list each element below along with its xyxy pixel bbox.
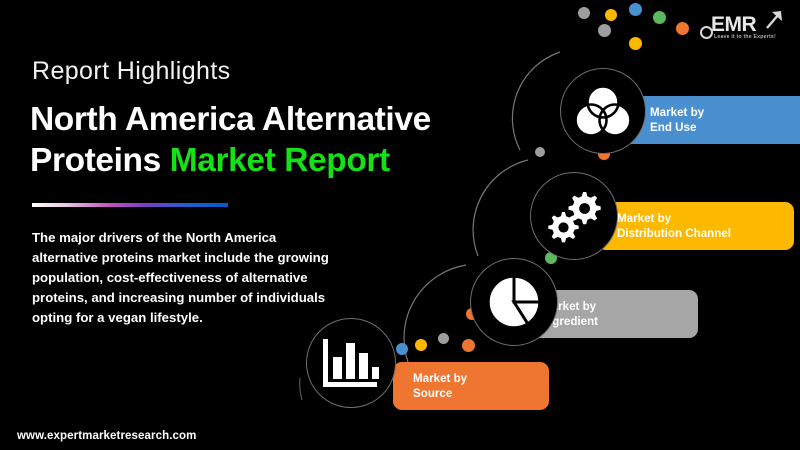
pie-chart-icon xyxy=(470,258,558,346)
decor-dot-1 xyxy=(578,7,590,19)
segment-distribution-channel-label-2: Distribution Channel xyxy=(617,226,731,241)
decor-dot-3 xyxy=(629,3,642,16)
decor-dot-0 xyxy=(598,24,611,37)
decor-dot-9 xyxy=(535,147,545,157)
decor-dot-5 xyxy=(629,37,642,50)
segment-distribution-channel-badge[interactable]: Market by Distribution Channel xyxy=(597,202,794,250)
decor-dot-6 xyxy=(676,22,689,35)
report-highlights-banner: EMR Leave it to the Experts! Report High… xyxy=(0,0,800,450)
decor-dot-14 xyxy=(396,343,408,355)
gears-icon xyxy=(530,172,618,260)
decor-dot-13 xyxy=(415,339,427,351)
segment-end-use-label-1: Market by xyxy=(650,105,704,120)
segment-source-label-2: Source xyxy=(413,386,467,401)
bar-chart-icon xyxy=(306,318,396,408)
decor-dot-2 xyxy=(605,9,617,21)
segment-source-label-1: Market by xyxy=(413,371,467,386)
decor-dot-4 xyxy=(653,11,666,24)
decor-dot-12 xyxy=(438,333,449,344)
segment-distribution-channel-label-1: Market by xyxy=(617,211,731,226)
venn-diagram-icon xyxy=(560,68,646,154)
segment-end-use-badge[interactable]: Market by End Use xyxy=(630,96,800,144)
segment-end-use-label-2: End Use xyxy=(650,120,704,135)
segment-source-badge[interactable]: Market by Source xyxy=(393,362,549,410)
